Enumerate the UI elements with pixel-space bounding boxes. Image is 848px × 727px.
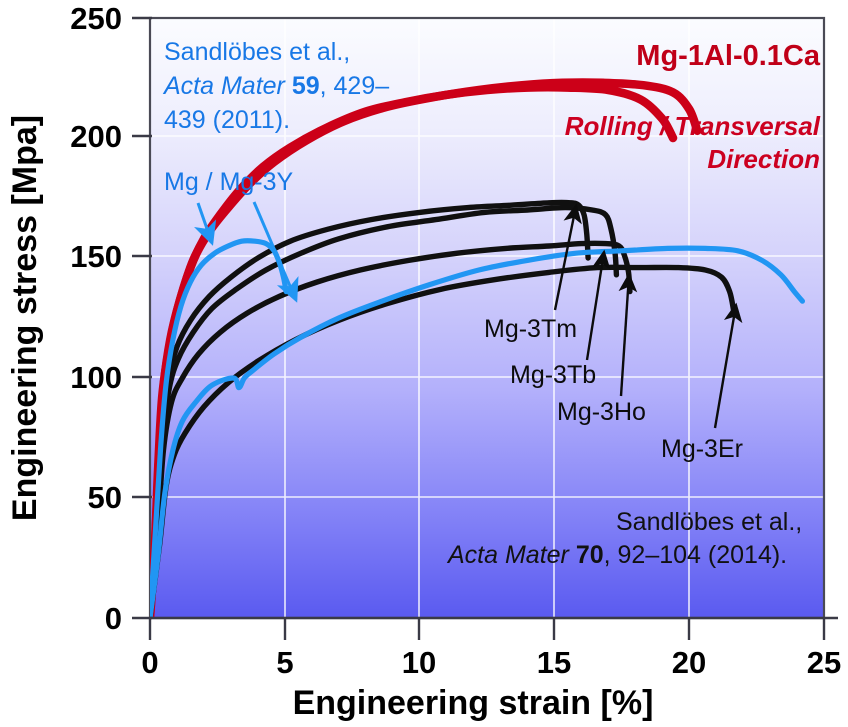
x-tick-25: 25 [807,645,841,680]
label-mg-1al-01ca: Mg-1Al-0.1Ca [636,40,821,72]
y-tick-250: 250 [70,1,122,36]
x-axis-tick-labels: 0 5 10 15 20 25 [141,645,841,680]
x-tick-15: 15 [537,645,571,680]
citation-2014-journal: Acta Mater [446,541,576,569]
label-mg-3er: Mg-3Er [661,435,743,463]
y-tick-200: 200 [70,119,122,154]
citation-2011-line3: 439 (2011). [164,106,290,134]
x-tick-10: 10 [402,645,436,680]
citation-2011-journal: Acta Mater [162,72,292,100]
citation-2014-pages: , 92–104 (2014). [604,541,787,569]
x-tick-20: 20 [672,645,706,680]
citation-2011-line2: Acta Mater 59, 429– [162,72,389,100]
y-axis-tick-labels: 0 50 100 150 200 250 [70,1,122,636]
citation-2011-volume: 59 [292,72,320,100]
x-tick-0: 0 [141,645,158,680]
citation-2014-volume: 70 [576,541,604,569]
stress-strain-chart: 0 50 100 150 200 250 0 5 10 15 20 25 Eng… [0,0,848,727]
y-tick-150: 150 [70,239,122,274]
citation-2011-line1: Sandlöbes et al., [164,38,350,66]
x-axis-ticks [150,618,824,640]
y-tick-50: 50 [88,480,122,515]
x-axis-title: Engineering strain [%] [293,684,654,722]
citation-2014-line2: Acta Mater 70, 92–104 (2014). [446,541,787,569]
label-mg-mg3y: Mg / Mg-3Y [164,168,294,196]
citation-2011-pages: , 429– [320,72,390,100]
citation-2014-line1: Sandlöbes et al., [616,508,802,536]
y-tick-100: 100 [70,360,122,395]
label-mg-3tm: Mg-3Tm [484,315,577,343]
label-direction: Direction [707,144,820,174]
y-axis-title: Engineering stress [Mpa] [6,115,44,521]
x-tick-5: 5 [276,645,293,680]
y-tick-0: 0 [105,601,122,636]
label-mg-3ho: Mg-3Ho [557,398,646,426]
label-mg-3tb: Mg-3Tb [510,361,596,389]
chart-figure: 0 50 100 150 200 250 0 5 10 15 20 25 Eng… [0,0,848,727]
label-rolling-transversal: Rolling / Transversal [565,111,821,141]
